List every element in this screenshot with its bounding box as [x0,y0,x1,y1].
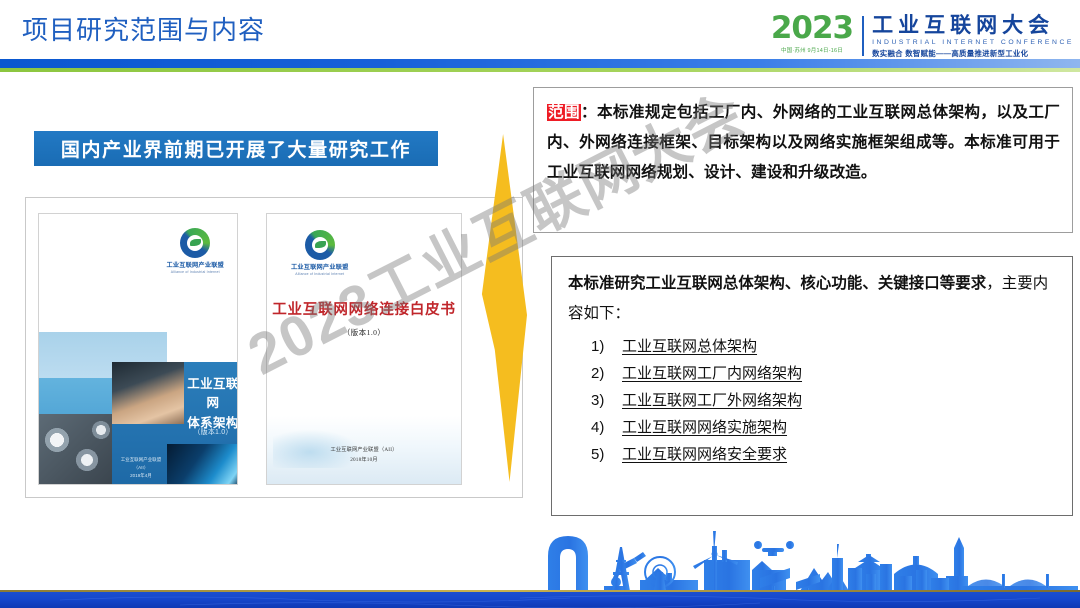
book2-footer-org: 工业互联网产业联盟（AII） [330,447,397,453]
book1-title: 工业互联网 体系架构 [187,375,238,433]
book1-gears-photo [39,414,117,485]
bottom-skyline-decoration [0,516,1080,608]
list-item-number: 5) [568,447,622,462]
book1-title-line1: 工业互联网 [187,377,238,410]
list-item-label: 工业互联网工厂外网络架构 [622,393,802,408]
left-panel-banner-label: 国内产业界前期已开展了大量研究工作 [61,135,411,162]
book1-tech-photo [167,444,238,485]
conference-date-location: 中国·苏州 9月14日-16日 [771,46,853,54]
aii-gear-icon [305,230,335,260]
content-lead-bold: 本标准研究工业互联网总体架构、核心功能、关键接口等要求 [568,275,986,292]
scope-label-highlight: 范围 [547,104,581,121]
conference-year: 2023 [771,14,853,43]
conference-name-cn: 工业互联网大会 [872,15,1074,37]
aii-org-name-en: Alliance of Industrial Internet [171,270,220,274]
conference-logo-year-block: 2023 中国·苏州 9月14日-16日 [771,14,862,54]
logo-divider [862,16,864,56]
content-item-list: 1) 工业互联网总体架构 2) 工业互联网工厂内网络架构 3) 工业互联网工厂外… [568,339,1058,462]
book-cover-whitepaper: 工业互联网产业联盟 Alliance of Industrial Interne… [266,213,462,485]
header-gradient-bar [0,59,1080,68]
list-item-number: 2) [568,366,622,381]
conference-name-en: INDUSTRIAL INTERNET CONFERENCE [872,39,1074,46]
list-item-number: 1) [568,339,622,354]
list-item-label: 工业互联网总体架构 [622,339,757,354]
aii-logo: 工业互联网产业联盟 Alliance of Industrial Interne… [291,230,349,276]
conference-slogan: 数实融合 数智赋能——高质量推进新型工业化 [872,48,1074,59]
scope-colon: ： [581,104,597,121]
books-panel: 工业互联网产业联盟 Alliance of Industrial Interne… [25,197,523,498]
book2-footer: 工业互联网产业联盟（AII） 2018年10月 [267,446,461,466]
list-item-label: 工业互联网工厂内网络架构 [622,366,802,381]
page-title: 项目研究范围与内容 [22,10,265,47]
list-item: 3) 工业互联网工厂外网络架构 [568,393,1058,408]
slide-header: 项目研究范围与内容 2023 中国·苏州 9月14日-16日 工业互联网大会 I… [0,0,1080,80]
book1-footer: 工业互联网产业联盟（AII） 2019年4月 [115,456,167,480]
book1-footer-org: 工业互联网产业联盟（AII） [121,457,161,470]
list-item: 5) 工业互联网网络安全要求 [568,447,1058,462]
book1-handshake-photo [112,362,184,424]
scope-body: 本标准规定包括工厂内、外网络的工业互联网总体架构，以及工厂内、外网络连接框架、目… [547,104,1060,181]
list-item-label: 工业互联网网络安全要求 [622,447,787,462]
conference-logo: 2023 中国·苏州 9月14日-16日 工业互联网大会 INDUSTRIAL … [771,14,1074,59]
content-textbox: 本标准研究工业互联网总体架构、核心功能、关键接口等要求，主要内容如下： 1) 工… [551,256,1073,516]
conference-name-block: 工业互联网大会 INDUSTRIAL INTERNET CONFERENCE 数… [872,14,1074,59]
horizon-line [0,590,1080,592]
list-item-label: 工业互联网网络实施架构 [622,420,787,435]
list-item: 2) 工业互联网工厂内网络架构 [568,366,1058,381]
left-panel-banner: 国内产业界前期已开展了大量研究工作 [34,131,438,166]
list-item-number: 4) [568,420,622,435]
book-cover-architecture: 工业互联网产业联盟 Alliance of Industrial Interne… [38,213,238,485]
book1-version: （版本1.0） [187,427,238,437]
aii-org-name-en: Alliance of Industrial Internet [295,272,344,276]
scope-paragraph: 范围：本标准规定包括工厂内、外网络的工业互联网总体架构，以及工厂内、外网络连接框… [547,98,1060,188]
aii-gear-icon [180,228,210,258]
book2-version: （版本1.0） [267,327,461,338]
list-item: 4) 工业互联网网络实施架构 [568,420,1058,435]
aii-org-name-cn: 工业互联网产业联盟 [291,262,349,271]
sea-band [0,592,1080,608]
book1-footer-date: 2019年4月 [130,473,152,478]
aii-logo: 工业互联网产业联盟 Alliance of Industrial Interne… [167,228,225,274]
list-item-number: 3) [568,393,622,408]
book2-footer-date: 2018年10月 [350,457,378,463]
aii-org-name-cn: 工业互联网产业联盟 [167,260,225,269]
scope-textbox: 范围：本标准规定包括工厂内、外网络的工业互联网总体架构，以及工厂内、外网络连接框… [533,87,1073,233]
header-green-underline [0,68,1080,72]
book2-title: 工业互联网网络连接白皮书 [267,298,461,319]
list-item: 1) 工业互联网总体架构 [568,339,1058,354]
content-lead-paragraph: 本标准研究工业互联网总体架构、核心功能、关键接口等要求，主要内容如下： [568,269,1058,329]
